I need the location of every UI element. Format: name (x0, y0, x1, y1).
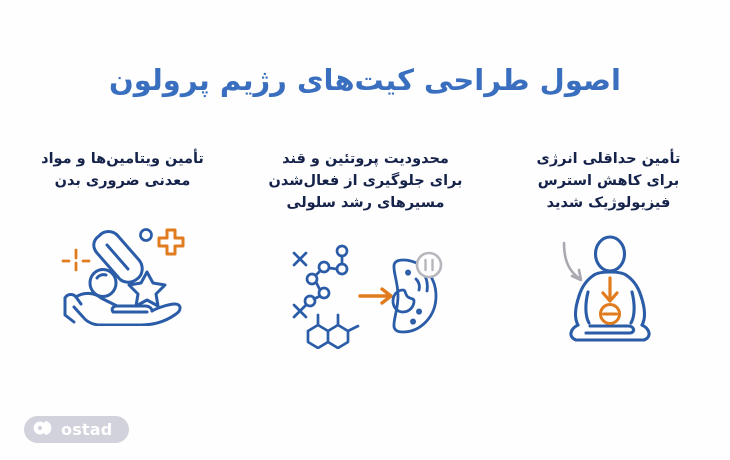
caption-line: تأمین حداقلی انرژی (506, 148, 711, 170)
caption-line: تأمین ویتامین‌ها و مواد (20, 148, 225, 170)
column-vitamins-caption: تأمین ویتامین‌ها و مواد معدنی ضروری بدن (20, 148, 225, 192)
slide-canvas: اصول طراحی کیت‌های رژیم پرولون تأمین حدا… (0, 0, 730, 460)
caption-line: برای کاهش استرس (506, 170, 711, 192)
column-protein-sugar-caption: محدودیت پروتئین و قند برای جلوگیری از فع… (263, 148, 468, 214)
caption-line: برای جلوگیری از فعال‌شدن (263, 170, 468, 192)
column-energy-caption: تأمین حداقلی انرژی برای کاهش استرس فیزیو… (506, 148, 711, 214)
caption-line: معدنی ضروری بدن (20, 170, 225, 192)
caption-line: فیزیولوژیک شدید (506, 192, 711, 214)
meditating-person-stress-down-icon (550, 230, 668, 350)
column-energy: تأمین حداقلی انرژی برای کاهش استرس فیزیو… (487, 148, 730, 350)
columns-container: تأمین حداقلی انرژی برای کاهش استرس فیزیو… (0, 148, 730, 378)
column-vitamins: تأمین ویتامین‌ها و مواد معدنی ضروری بدن (1, 148, 244, 332)
molecules-blocked-cell-paused-icon (286, 236, 446, 356)
caption-line: محدودیت پروتئین و قند (263, 148, 468, 170)
ostad-logo: ostad (24, 416, 129, 443)
ostad-logo-mark-icon (33, 420, 55, 440)
caption-line: مسیرهای رشد سلولی (263, 192, 468, 214)
hand-with-supplements-icon (61, 212, 185, 332)
column-protein-sugar: محدودیت پروتئین و قند برای جلوگیری از فع… (244, 148, 487, 356)
ostad-logo-text: ostad (61, 422, 112, 438)
page-title: اصول طراحی کیت‌های رژیم پرولون (0, 62, 730, 100)
